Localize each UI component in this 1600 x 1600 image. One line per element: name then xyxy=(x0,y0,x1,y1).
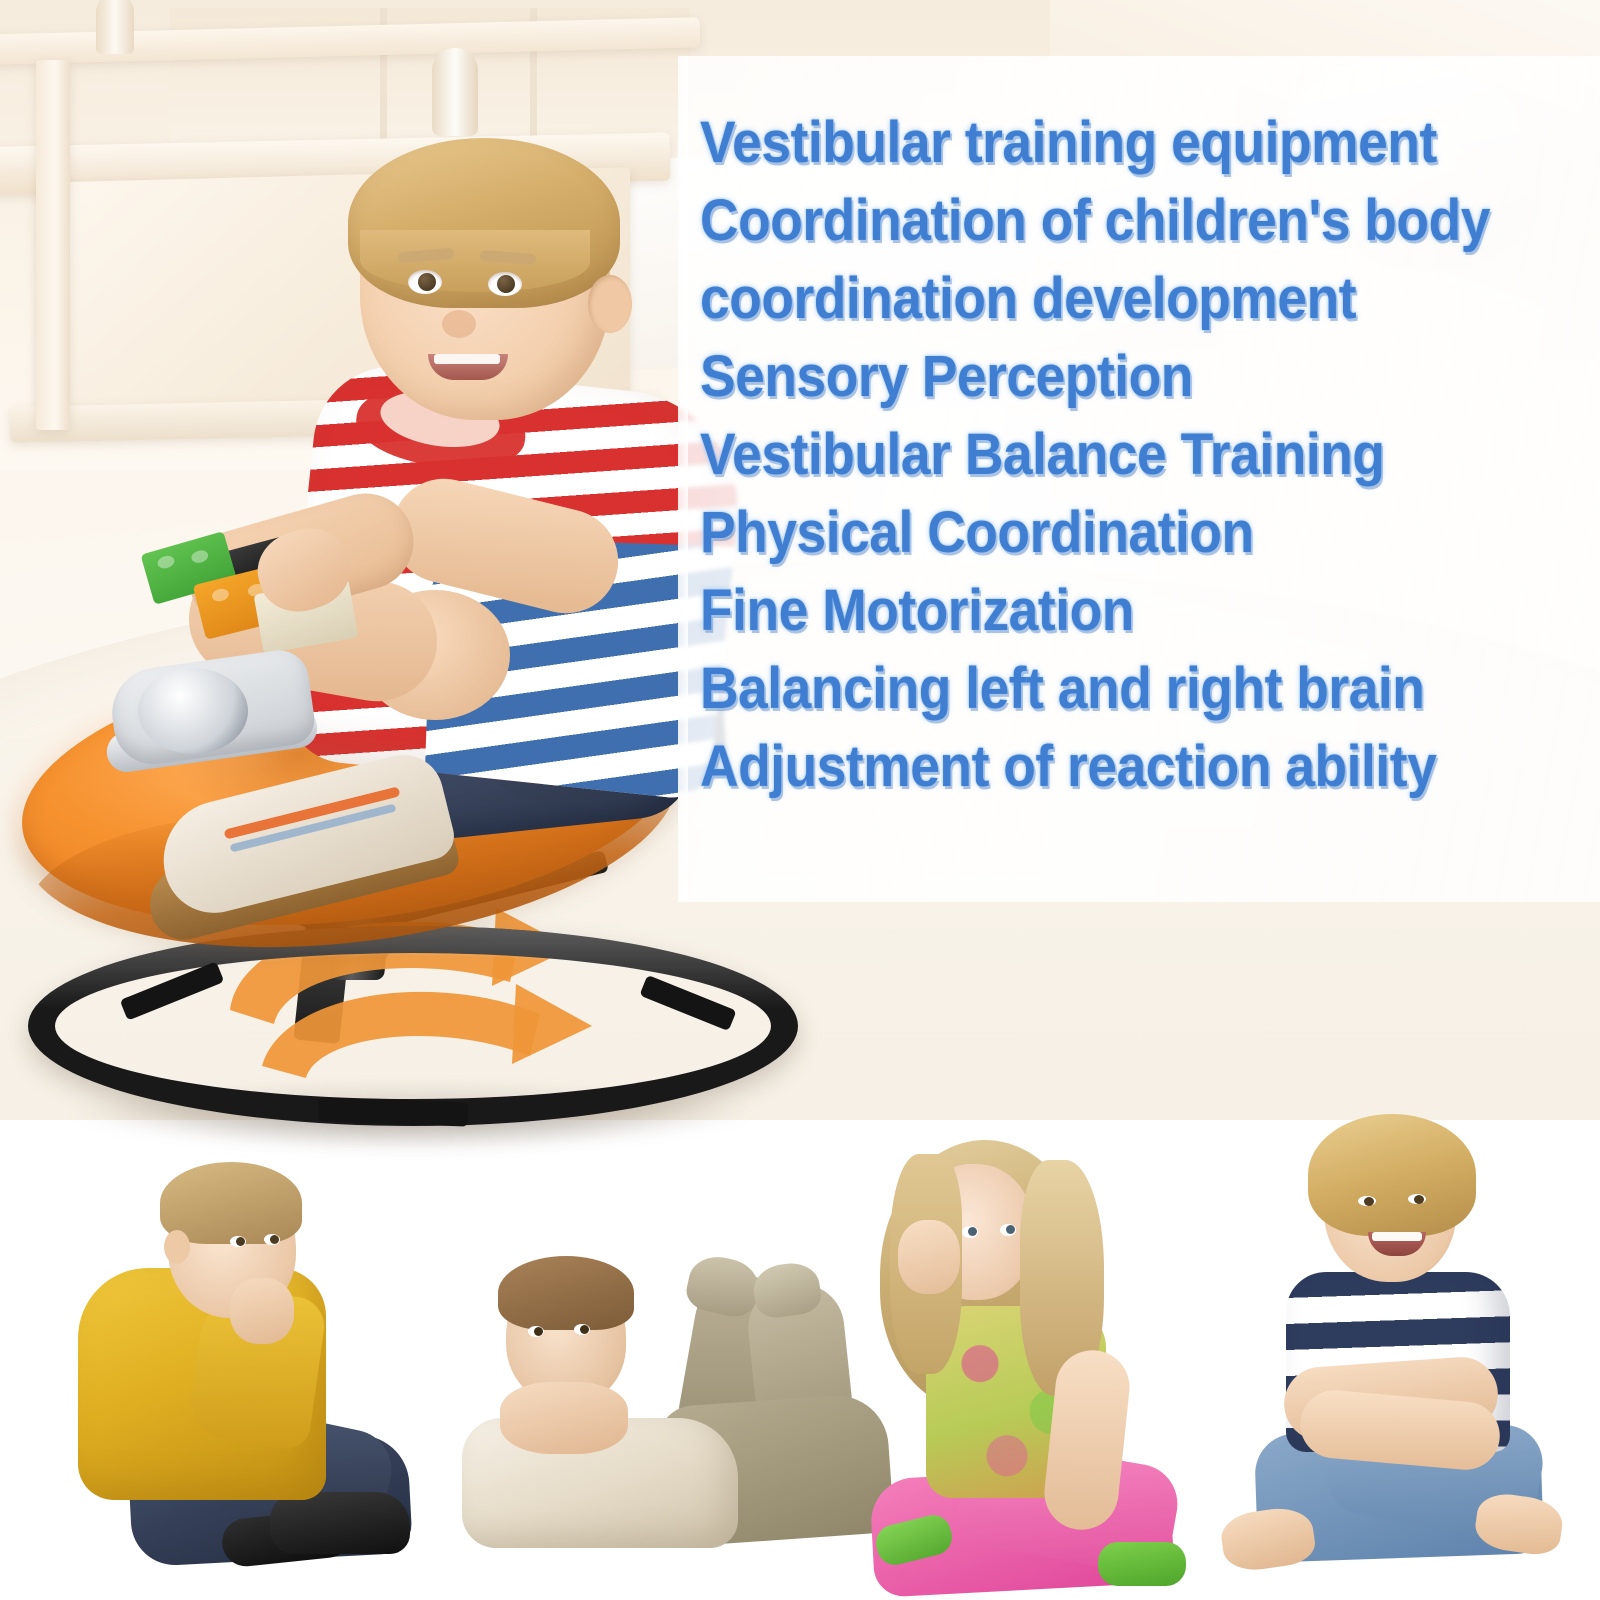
feature-line: Coordination of children's body xyxy=(700,182,1528,260)
feature-line: Vestibular Balance Training xyxy=(700,416,1528,494)
bed-post-finial-left xyxy=(96,0,134,54)
child-black-shoe xyxy=(270,1492,410,1554)
child-pupil xyxy=(1364,1197,1374,1206)
child-pupil xyxy=(270,1235,279,1244)
feature-list: Vestibular training equipment Coordinati… xyxy=(700,104,1600,806)
child-pupil xyxy=(418,273,436,291)
child-hand-on-head xyxy=(898,1220,960,1294)
feature-line: Adjustment of reaction ability xyxy=(700,728,1528,806)
feature-line: Sensory Perception xyxy=(700,338,1528,416)
feature-line: Balancing left and right brain xyxy=(700,650,1528,728)
child-pupil xyxy=(236,1237,245,1246)
child-bare-foot xyxy=(1218,1504,1317,1574)
shoe-toe-cap xyxy=(138,668,248,754)
feature-line: coordination development xyxy=(700,260,1528,338)
child-teeth xyxy=(434,354,500,364)
chair-base-ring-sheen xyxy=(28,926,798,1126)
child-ear xyxy=(588,275,632,333)
child-hands-on-chin xyxy=(500,1382,628,1454)
child-pupil xyxy=(1414,1195,1424,1204)
child-nose xyxy=(442,310,476,338)
children-photo-row xyxy=(0,1100,1600,1600)
product-marketing-image: Vestibular training equipment Coordinati… xyxy=(0,0,1600,1600)
child-pupil xyxy=(580,1325,589,1334)
child-ear xyxy=(164,1230,190,1264)
child-pupil xyxy=(497,275,515,293)
feature-line: Vestibular training equipment xyxy=(700,104,1528,182)
child-green-sandal xyxy=(1098,1542,1186,1586)
child-on-spinning-chair xyxy=(60,120,700,900)
child-pupil xyxy=(1006,1225,1015,1234)
child-pupil xyxy=(534,1327,543,1336)
child-teeth xyxy=(1372,1232,1422,1241)
child-hair xyxy=(1308,1114,1476,1236)
feature-line: Physical Coordination xyxy=(700,494,1528,572)
child-pupil xyxy=(968,1227,977,1236)
child-hair xyxy=(498,1256,634,1330)
child-hand xyxy=(230,1278,294,1344)
panel-left-edge xyxy=(678,56,688,902)
feature-line: Fine Motorization xyxy=(700,572,1528,650)
